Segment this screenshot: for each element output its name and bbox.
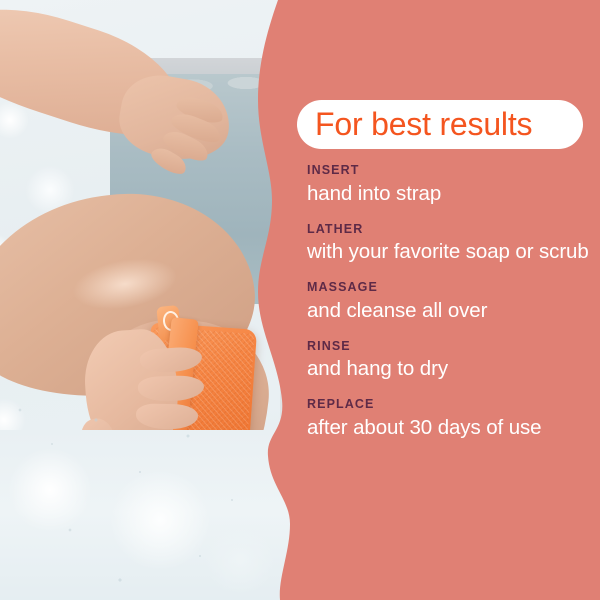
page-title: For best results (315, 106, 532, 143)
steps-list: INSERT hand into strap LATHER with your … (307, 164, 597, 457)
step-massage: MASSAGE and cleanse all over (307, 281, 597, 323)
foam-bubbles-texture (0, 380, 300, 600)
step-lather: LATHER with your favorite soap or scrub (307, 223, 597, 265)
step-label: MASSAGE (307, 281, 597, 295)
instructions-panel: For best results INSERT hand into strap … (297, 0, 600, 600)
lifestyle-photo (0, 0, 320, 600)
step-rinse: RINSE and hang to dry (307, 340, 597, 382)
product-instruction-card: For best results INSERT hand into strap … (0, 0, 600, 600)
step-replace: REPLACE after about 30 days of use (307, 398, 597, 440)
step-body: with your favorite soap or scrub (307, 240, 597, 264)
step-body: and cleanse all over (307, 299, 597, 323)
step-label: INSERT (307, 164, 597, 178)
step-label: LATHER (307, 223, 597, 237)
step-body: hand into strap (307, 182, 597, 206)
step-label: RINSE (307, 340, 597, 354)
step-body: after about 30 days of use (307, 416, 597, 440)
step-body: and hang to dry (307, 357, 597, 381)
step-insert: INSERT hand into strap (307, 164, 597, 206)
step-label: REPLACE (307, 398, 597, 412)
heading-pill: For best results (297, 100, 583, 149)
